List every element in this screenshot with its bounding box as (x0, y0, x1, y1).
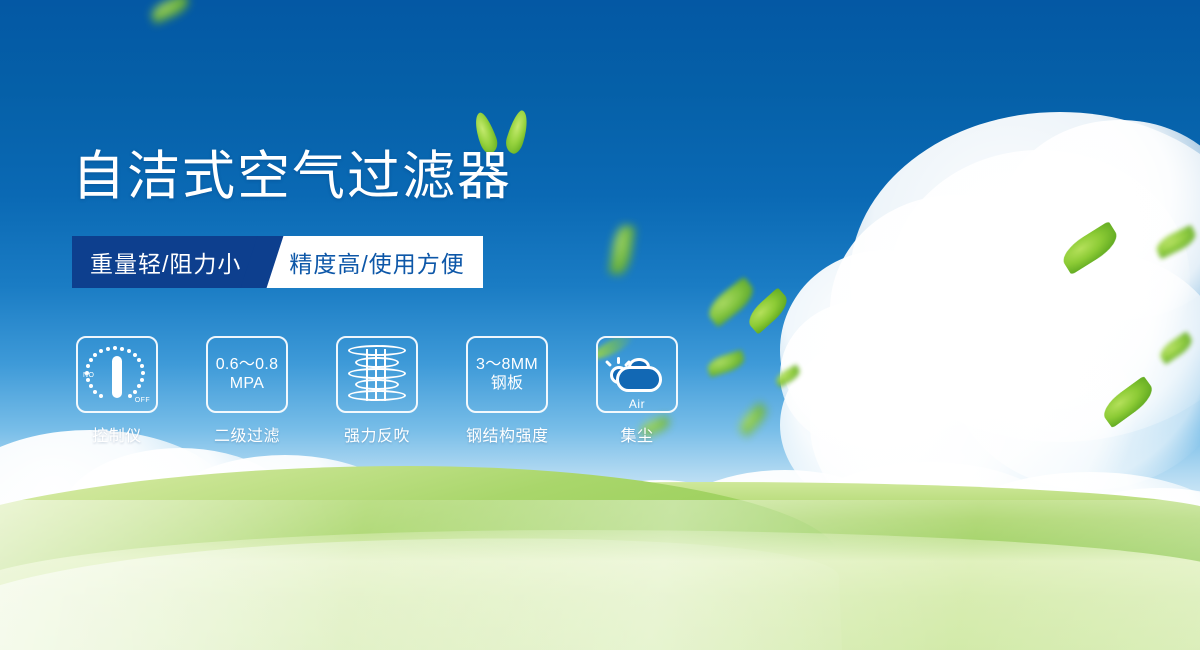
subtitle-band: 重量轻/阻力小 精度高/使用方便 (72, 236, 483, 288)
feature-text-line2: MPA (230, 375, 264, 394)
feature-caption: 强力反吹 (336, 422, 418, 446)
feature-text-line1: 0.6～0.8 (216, 356, 279, 375)
gauge-needle (112, 356, 122, 398)
cloud-shape (780, 300, 950, 450)
cloud-air-icon: Air (606, 352, 668, 398)
page-title: 自洁式空气过滤器 (72, 148, 512, 205)
feature-item[interactable]: 强力反吹 (336, 336, 418, 446)
subtitle-secondary: 精度高/使用方便 (261, 236, 482, 288)
cloud-body (616, 366, 662, 392)
feature-icon-box[interactable] (336, 336, 418, 413)
feature-list: NO OFF 控制仪 0.6～0.8 MPA 二级过滤 (76, 336, 678, 446)
feature-item[interactable]: Air 集尘 (596, 336, 678, 446)
subtitle-primary: 重量轻/阻力小 (72, 236, 263, 288)
feature-icon-box[interactable]: 0.6～0.8 MPA (206, 336, 288, 413)
gauge-off-label: OFF (135, 397, 150, 404)
feature-item[interactable]: 0.6～0.8 MPA 二级过滤 (206, 336, 288, 446)
feature-caption: 钢结构强度 (466, 422, 548, 446)
feature-item[interactable]: NO OFF 控制仪 (76, 336, 158, 446)
stacked-rings-icon (348, 345, 406, 405)
feature-caption: 集尘 (596, 422, 678, 446)
grass-field (0, 460, 1200, 650)
feature-item[interactable]: 3～8MM 钢板 钢结构强度 (466, 336, 548, 446)
gauge-icon: NO OFF (84, 344, 150, 406)
hero-banner: 自洁式空气过滤器 重量轻/阻力小 精度高/使用方便 (0, 0, 1200, 650)
feature-text-line1: 3～8MM (476, 356, 538, 375)
grass-sunlight-sheen (0, 500, 1200, 650)
feature-caption: 二级过滤 (206, 422, 288, 446)
gauge-on-label: NO (83, 372, 94, 379)
feature-text-line2: 钢板 (491, 375, 524, 394)
feature-icon-box[interactable]: 3～8MM 钢板 (466, 336, 548, 413)
air-label: Air (606, 397, 668, 411)
feature-caption: 控制仪 (76, 422, 158, 446)
feature-icon-box[interactable]: Air (596, 336, 678, 413)
feature-icon-box[interactable]: NO OFF (76, 336, 158, 413)
